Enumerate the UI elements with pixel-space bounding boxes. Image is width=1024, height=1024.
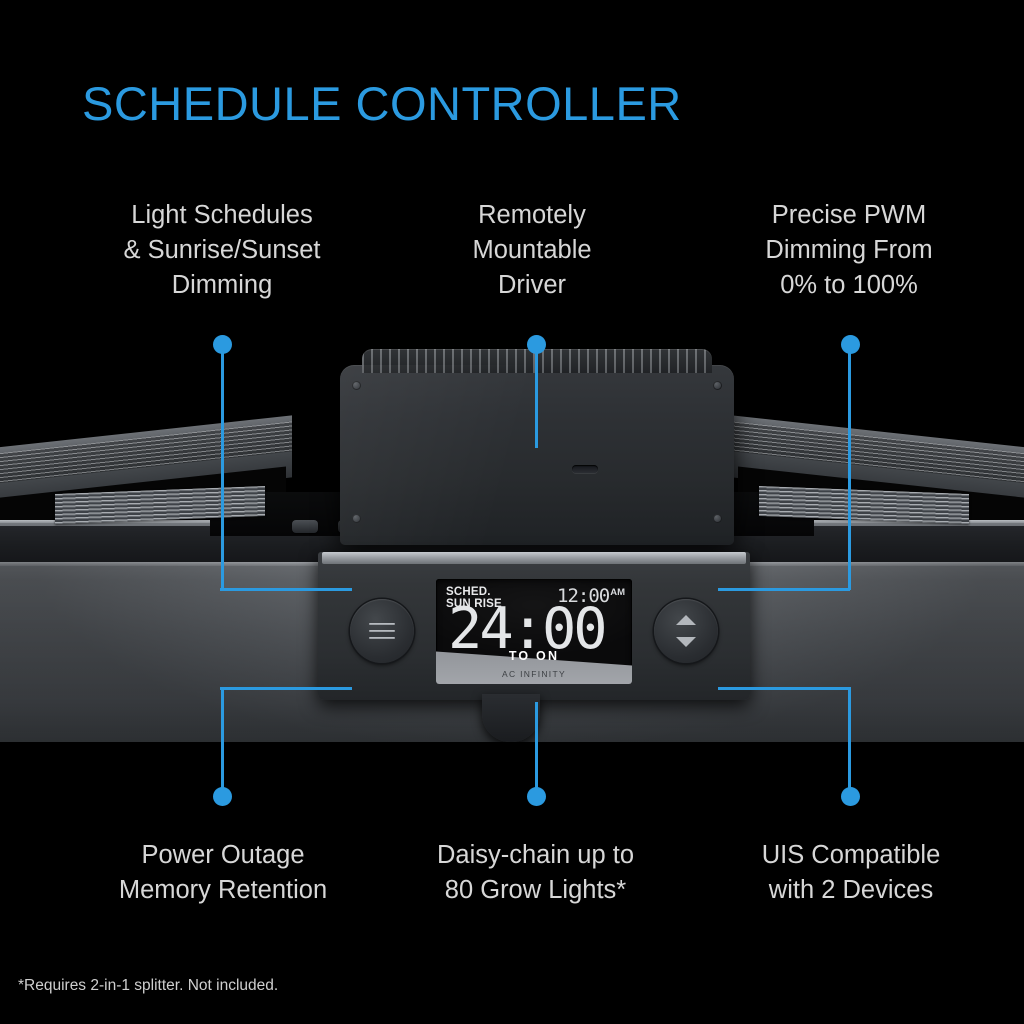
product-photo: SCHED. SUN RISE 12:00 AM 24:00 TO ON AC …	[0, 330, 1024, 790]
screw-icon	[352, 514, 361, 523]
callout-remotely-mountable: Remotely Mountable Driver	[412, 198, 652, 303]
screw-icon	[713, 514, 722, 523]
callout-line-bottom-right-h	[718, 687, 850, 690]
callout-light-schedules: Light Schedules & Sunrise/Sunset Dimming	[72, 198, 372, 303]
lcd-main-value: 24:00	[448, 605, 605, 654]
up-down-button[interactable]	[654, 599, 718, 663]
callout-dot-bottom-right	[841, 787, 860, 806]
arrow-stack	[676, 615, 696, 647]
menu-button[interactable]	[350, 599, 414, 663]
chevron-down-icon[interactable]	[676, 637, 696, 647]
screw-icon	[352, 381, 361, 390]
callout-line-top-left-v	[221, 352, 224, 590]
callout-pwm-dimming: Precise PWM Dimming From 0% to 100%	[718, 198, 980, 303]
callout-dot-top-right	[841, 335, 860, 354]
product-feature-graphic: SCHEDULE CONTROLLER	[0, 0, 1024, 1024]
callout-line-top-left-h	[220, 588, 352, 591]
chevron-up-icon[interactable]	[676, 615, 696, 625]
callout-line-top-right-v	[848, 352, 851, 590]
callout-line-bottom-center	[535, 702, 538, 798]
page-title: SCHEDULE CONTROLLER	[82, 76, 682, 131]
screw-icon	[713, 381, 722, 390]
hamburger-menu-icon	[369, 623, 395, 640]
callout-line-top-center	[535, 352, 538, 448]
footnote: *Requires 2-in-1 splitter. Not included.	[18, 977, 278, 995]
callout-power-outage-memory: Power Outage Memory Retention	[78, 838, 368, 908]
callout-uis-compatible: UIS Compatible with 2 Devices	[722, 838, 980, 908]
callout-dot-bottom-center	[527, 787, 546, 806]
mounting-hardware	[292, 520, 318, 533]
callout-line-top-right-h	[718, 588, 850, 591]
callout-dot-bottom-left	[213, 787, 232, 806]
controller-panel: SCHED. SUN RISE 12:00 AM 24:00 TO ON AC …	[318, 552, 750, 700]
callout-line-bottom-left-h	[220, 687, 352, 690]
callout-line-bottom-right-v	[848, 687, 851, 795]
lcd-clock-meridiem: AM	[610, 585, 625, 598]
driver-vent-slot	[572, 465, 598, 473]
lcd-brand-label: AC INFINITY	[436, 669, 632, 679]
callout-daisy-chain: Daisy-chain up to 80 Grow Lights*	[398, 838, 673, 908]
lcd-state-label: TO ON	[436, 649, 632, 663]
callout-line-bottom-left-v	[221, 687, 224, 795]
lcd-display: SCHED. SUN RISE 12:00 AM 24:00 TO ON AC …	[436, 579, 632, 684]
